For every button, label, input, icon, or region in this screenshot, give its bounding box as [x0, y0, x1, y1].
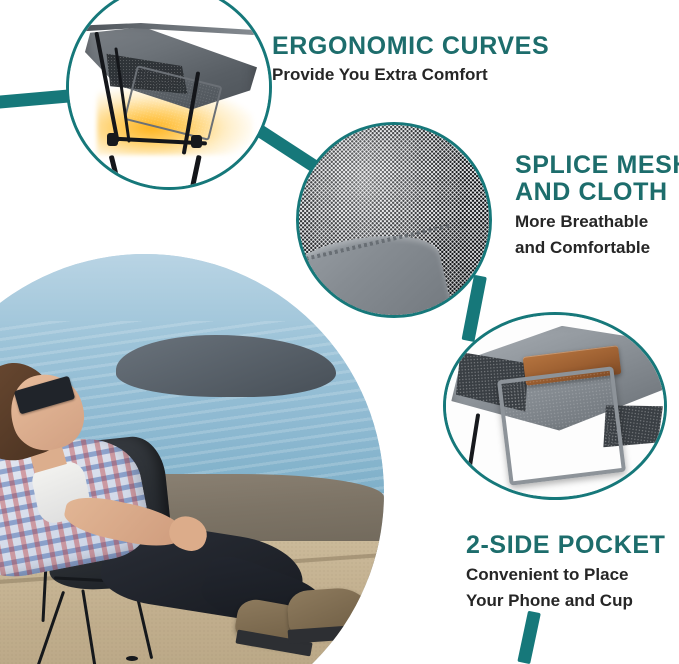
chair-frame-joint	[191, 135, 202, 148]
feature-headline-splice-line1: SPLICE MESH	[515, 152, 679, 179]
side-mesh-pocket	[497, 367, 626, 487]
photo-chair-foot	[126, 656, 138, 661]
chair-frame-joint	[107, 133, 118, 146]
connector-bar-bottom	[517, 611, 541, 664]
feature-headline-pocket: 2-SIDE POCKET	[466, 532, 666, 559]
feature-headline-splice-line2: AND CLOTH	[515, 179, 679, 206]
feature-subtitle-pocket-line1: Convenient to Place	[466, 565, 666, 585]
feature-subtitle-pocket-line2: Your Phone and Cup	[466, 591, 666, 611]
feature-subtitle-splice-line1: More Breathable	[515, 212, 679, 232]
feature-text-ergonomic: ERGONOMIC CURVES Provide You Extra Comfo…	[272, 33, 549, 85]
feature-text-side-pocket: 2-SIDE POCKET Convenient to Place Your P…	[466, 532, 666, 612]
infographic-stage: ERGONOMIC CURVES Provide You Extra Comfo…	[0, 0, 679, 664]
feature-subtitle-splice-line2: and Comfortable	[515, 238, 679, 258]
callout-circle-side-pocket	[443, 312, 667, 500]
callout-circle-splice-mesh	[296, 122, 492, 318]
feature-headline-ergonomic: ERGONOMIC CURVES	[272, 33, 549, 60]
lifestyle-photo	[0, 254, 384, 664]
callout-circle-ergonomic-curves	[66, 0, 272, 190]
feature-subtitle-ergonomic: Provide You Extra Comfort	[272, 65, 549, 85]
feature-text-splice-mesh: SPLICE MESH AND CLOTH More Breathable an…	[515, 152, 679, 259]
